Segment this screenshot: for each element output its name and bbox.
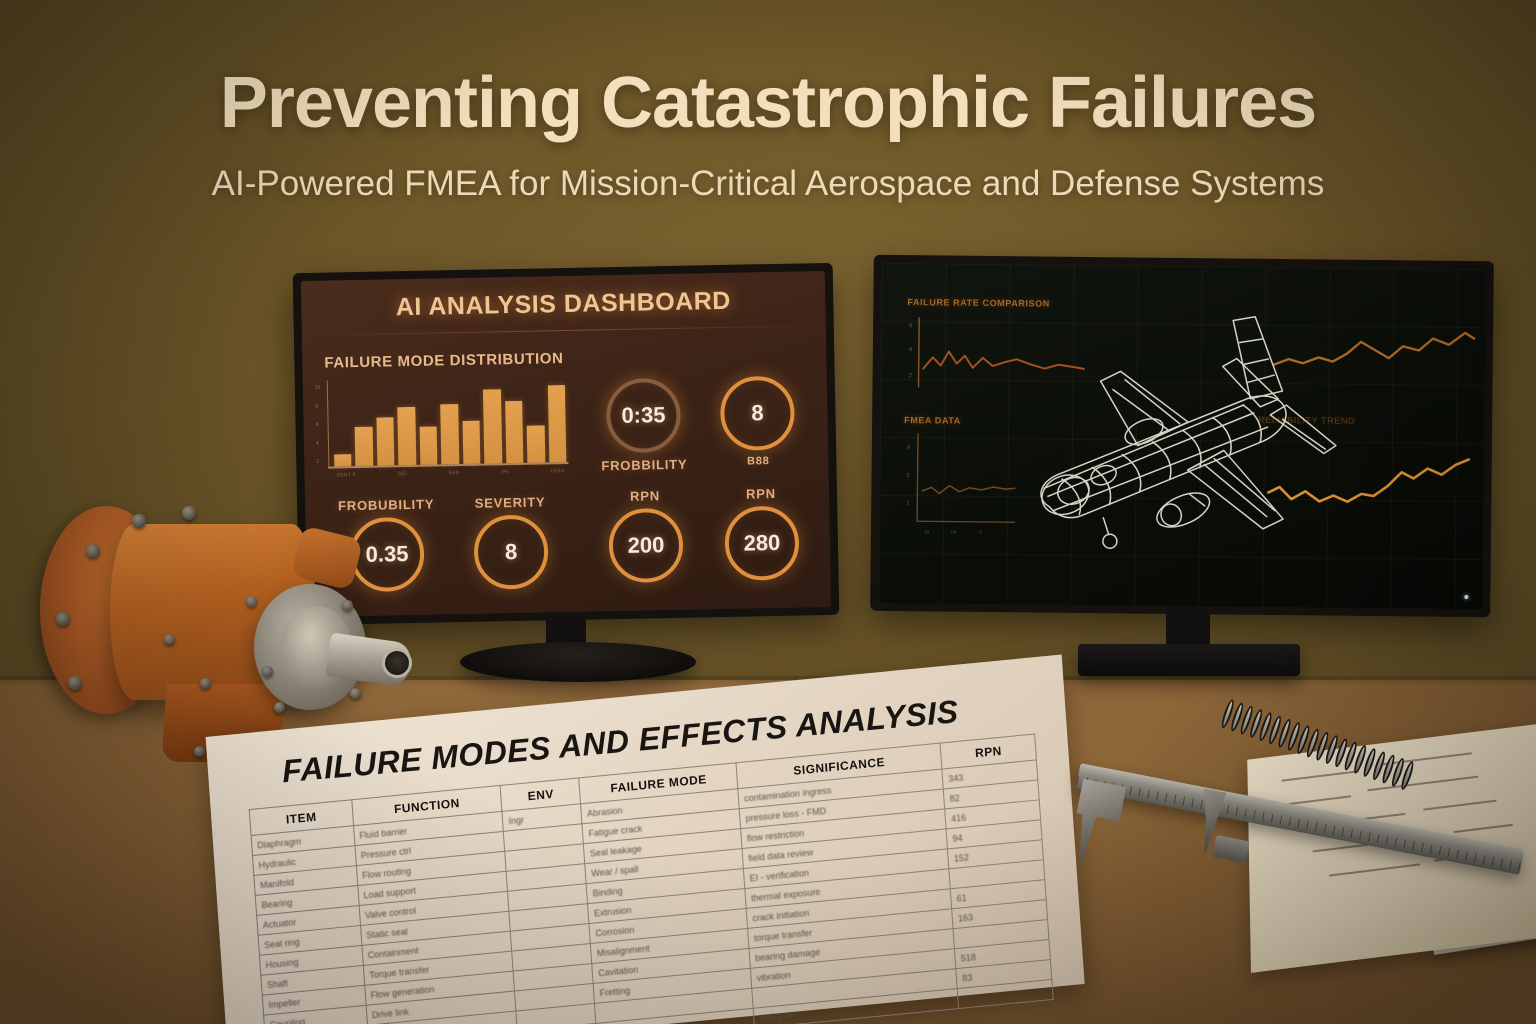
gauge-label: RPN <box>709 485 813 502</box>
left-monitor-base <box>460 642 696 682</box>
gauge-severity[interactable]: SEVERITY 8 <box>457 494 565 590</box>
gauge-ring: 0:35 <box>606 378 681 453</box>
gauge-ring: 280 <box>724 506 799 581</box>
bar <box>483 389 502 463</box>
body-bolt <box>246 596 257 607</box>
body-bolt <box>164 634 175 645</box>
gauge-b88[interactable]: 8 B88 <box>707 375 809 468</box>
gauge-rpn-280[interactable]: RPN 280 <box>709 485 815 581</box>
right-monitor[interactable]: FAILURE RATE COMPARISON FMEA DATA RELIAB… <box>872 258 1492 688</box>
body-bolt <box>200 678 211 689</box>
hub-bolt <box>274 702 285 713</box>
foot-bolt <box>194 746 205 757</box>
bar <box>398 406 417 465</box>
bar <box>376 417 394 465</box>
bar <box>355 427 373 466</box>
svg-text:2: 2 <box>906 501 910 507</box>
bar <box>440 404 459 465</box>
gauge-value: 0:35 <box>621 402 666 429</box>
chart-bars <box>333 376 567 466</box>
gauge-value: 8 <box>505 539 518 565</box>
handwritten-line <box>1453 824 1513 833</box>
gauge-ring: 8 <box>473 514 548 589</box>
svg-text:0: 0 <box>979 530 982 536</box>
svg-text:cn: cn <box>951 530 957 536</box>
dashboard-divider <box>302 325 826 336</box>
svg-text:2: 2 <box>909 373 913 379</box>
flange-bolt <box>86 544 100 558</box>
chart-y-ticks: 108642 <box>315 385 322 465</box>
handwritten-line <box>1288 795 1352 804</box>
gauge-label: FROBBILITY <box>594 457 694 474</box>
gauge-frobbility[interactable]: 0:35 FROBBILITY <box>593 378 695 474</box>
flange-bolt <box>132 514 146 528</box>
gauge-value: 280 <box>743 530 780 557</box>
chart-label-fmea-data: FMEA DATA <box>904 415 961 426</box>
flange-bolt <box>56 612 70 626</box>
x-tick-label: 2% <box>501 469 509 475</box>
svg-text:fa: fa <box>925 529 929 535</box>
dashboard-title: AI ANALYSIS DASHBOARD <box>301 285 825 324</box>
flange-bolt <box>182 506 196 520</box>
y-tick-label: 2 <box>316 459 322 465</box>
x-tick-label: SAN <box>448 470 459 476</box>
x-tick-label: VENT-F <box>337 472 357 478</box>
y-tick-label: 10 <box>315 385 321 391</box>
page-title: Preventing Catastrophic Failures <box>0 62 1536 144</box>
wireframe-screen[interactable]: FAILURE RATE COMPARISON FMEA DATA RELIAB… <box>878 263 1486 609</box>
gauge-rpn-200[interactable]: RPN 200 <box>593 487 699 583</box>
airplane-wireframe-model <box>990 292 1393 586</box>
gauge-value: 200 <box>627 532 664 559</box>
header-block: Preventing Catastrophic Failures AI-Powe… <box>0 62 1536 204</box>
power-led-icon <box>1464 595 1468 599</box>
x-tick-label: LESS <box>550 468 564 474</box>
svg-text:5: 5 <box>907 473 911 479</box>
bar <box>419 427 437 465</box>
hub-bolt <box>262 666 273 677</box>
gauge-ring: 200 <box>608 508 683 583</box>
y-tick-label: 8 <box>315 403 321 409</box>
gauge-label: RPN <box>593 487 697 504</box>
chart-title: FAILURE MODE DISTRIBUTION <box>324 350 563 372</box>
bar <box>505 401 524 463</box>
bar <box>547 385 566 463</box>
handwritten-line <box>1329 863 1420 876</box>
bar <box>462 421 480 464</box>
svg-text:6: 6 <box>909 323 913 329</box>
gauge-label: SEVERITY <box>457 494 563 511</box>
bar <box>334 454 352 466</box>
bar <box>527 425 545 462</box>
right-monitor-base <box>1078 644 1300 676</box>
gauge-label: B88 <box>708 454 808 468</box>
page-subtitle: AI-Powered FMEA for Mission-Critical Aer… <box>0 164 1536 204</box>
y-tick-label: 6 <box>316 422 322 428</box>
chart-y-axis <box>327 381 330 469</box>
failure-mode-bar-chart: 108642 VENT-FSEISAN2%LESS <box>327 376 569 469</box>
hub-bolt <box>350 688 361 699</box>
x-tick-label: SEI <box>398 471 407 477</box>
gauge-value: 8 <box>751 400 764 426</box>
svg-text:4: 4 <box>909 347 913 353</box>
gauge-ring: 8 <box>720 376 795 451</box>
hub-bolt <box>342 600 353 611</box>
flange-bolt <box>68 676 82 690</box>
y-tick-label: 4 <box>316 440 322 446</box>
svg-text:8: 8 <box>907 445 911 451</box>
chart-x-ticks: VENT-FSEISAN2%LESS <box>337 468 565 478</box>
